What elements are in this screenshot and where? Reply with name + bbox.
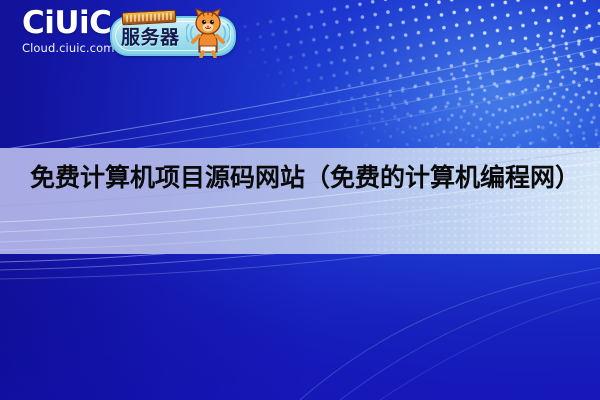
badge-label: 服务器 — [121, 23, 180, 50]
cat-mascot-icon — [186, 8, 230, 58]
server-badge[interactable]: 服务器 — [110, 16, 236, 56]
promo-banner: CiUiC Cloud.ciuic.com 服务器 — [0, 0, 600, 400]
title-band: 免费计算机项目源码网站（免费的计算机编程网） — [0, 148, 600, 254]
page-title: 免费计算机项目源码网站（免费的计算机编程网） — [30, 160, 578, 196]
